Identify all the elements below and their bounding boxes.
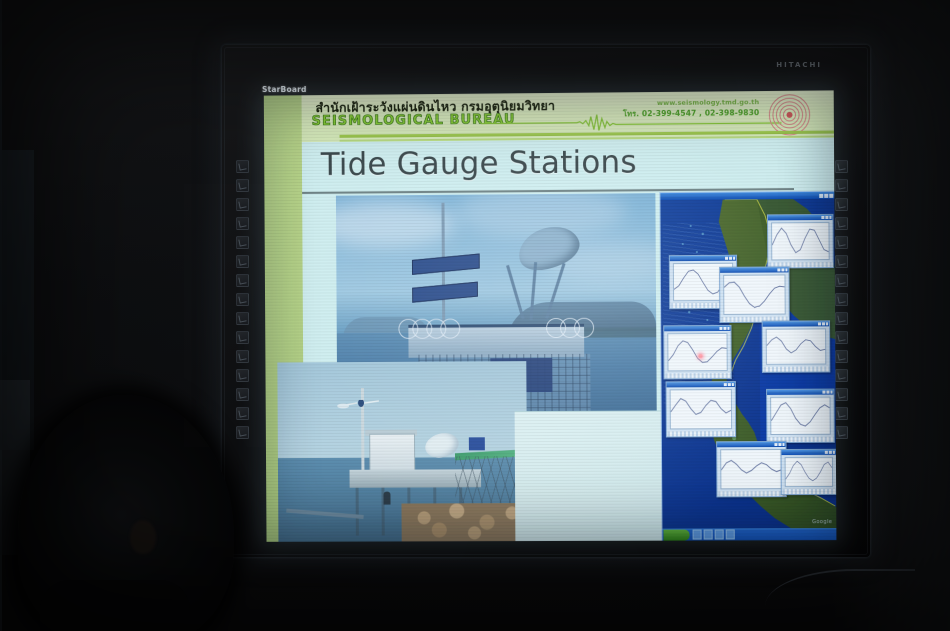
app-icon[interactable] <box>715 529 724 539</box>
station-marker <box>699 354 703 358</box>
starboard-brand-label: StarBoard <box>262 85 307 94</box>
capture-icon[interactable] <box>236 179 249 192</box>
slide-header-banner: สำนักเฝ้าระวังแผ่นดินไหว กรมอุตุนิยมวิทย… <box>302 90 834 142</box>
solar-panel-upper <box>412 254 480 275</box>
blank-placeholder-panel <box>515 410 671 541</box>
blue-equipment-box <box>469 437 485 450</box>
rotate-icon[interactable] <box>835 388 848 401</box>
window-titlebar[interactable] <box>768 215 832 220</box>
right-button-rail[interactable] <box>834 160 848 439</box>
tide-curve-chart <box>771 398 830 434</box>
tide-chart-window[interactable] <box>666 381 737 437</box>
tide-curve-chart <box>721 450 782 488</box>
rock-rubble <box>401 503 527 541</box>
tide-chart-window[interactable] <box>719 266 790 323</box>
line-icon[interactable] <box>835 350 848 363</box>
select-icon[interactable] <box>835 236 848 249</box>
arrow-icon[interactable] <box>835 369 848 382</box>
anemometer-icon <box>337 400 381 412</box>
window-titlebar[interactable] <box>664 326 730 331</box>
tide-curve-chart <box>772 223 829 260</box>
header-telephone-text: โทร. 02-399-4547 , 02-398-9830 <box>623 107 759 120</box>
highlighter-icon[interactable] <box>835 312 848 325</box>
tide-curve-chart <box>668 334 726 370</box>
tide-chart-window[interactable] <box>762 320 831 373</box>
chart-plot-area <box>766 328 827 364</box>
chart-plot-area <box>670 389 732 429</box>
taskbar-tray[interactable] <box>693 529 735 539</box>
window-statusbar <box>718 491 785 496</box>
person-under-pier <box>383 492 390 505</box>
shape-icon[interactable] <box>236 293 249 306</box>
print-icon[interactable] <box>835 160 848 173</box>
capture-icon[interactable] <box>835 179 848 192</box>
tide-chart-window[interactable] <box>767 214 834 269</box>
station-hut <box>369 434 415 474</box>
tide-chart-window[interactable] <box>766 389 835 444</box>
tide-curve-chart <box>724 275 785 313</box>
pen-icon[interactable] <box>236 255 249 268</box>
tide-chart-window[interactable] <box>716 441 787 497</box>
marker-icon[interactable] <box>236 331 249 344</box>
tide-gauge-network-map[interactable]: ANDAMAN SEA Google <box>659 191 836 542</box>
window-statusbar <box>668 431 735 436</box>
window-titlebar[interactable] <box>782 450 836 455</box>
marker-icon[interactable] <box>835 331 848 344</box>
highlighter-icon[interactable] <box>236 312 249 325</box>
tide-chart-window[interactable] <box>780 449 836 495</box>
chart-plot-area <box>720 449 783 489</box>
chart-plot-area <box>771 222 830 261</box>
chart-plot-area <box>770 397 831 435</box>
chart-plot-area <box>785 457 834 487</box>
menu-icon[interactable] <box>835 426 848 439</box>
line-icon[interactable] <box>236 350 249 363</box>
window-titlebar[interactable] <box>667 382 735 387</box>
silhouette-shoulders <box>40 580 190 631</box>
start-button[interactable] <box>663 530 689 541</box>
tide-curve-chart <box>786 458 832 486</box>
app-icon[interactable] <box>704 529 713 539</box>
window-titlebar[interactable] <box>670 256 736 261</box>
chart-plot-area <box>667 333 727 371</box>
window-titlebar[interactable] <box>720 267 788 272</box>
arrow-icon[interactable] <box>236 369 249 382</box>
app-icon[interactable] <box>693 530 702 540</box>
window-titlebar[interactable] <box>767 390 833 395</box>
tide-curve-chart <box>671 390 731 428</box>
blank-icon[interactable] <box>236 407 249 420</box>
pen-icon[interactable] <box>835 255 848 268</box>
solar-panel-lower <box>412 282 478 303</box>
chart-plot-area <box>723 274 786 315</box>
map-watermark: Google <box>812 519 832 525</box>
window-statusbar <box>764 366 829 371</box>
window-titlebar[interactable] <box>717 442 785 447</box>
slide-title: Tide Gauge Stations <box>321 144 637 183</box>
shape-icon[interactable] <box>835 293 848 306</box>
tide-gauge-pier-photo <box>277 361 527 542</box>
tide-chart-window[interactable] <box>663 325 732 379</box>
select-icon[interactable] <box>236 236 249 249</box>
rotate-icon[interactable] <box>236 388 249 401</box>
tide-curve-chart <box>767 329 826 363</box>
window-titlebar[interactable] <box>763 321 829 326</box>
hitachi-logo-label: HITACHI <box>776 61 822 69</box>
eraser-icon[interactable] <box>236 274 249 287</box>
app-icon[interactable] <box>726 529 735 539</box>
windows-taskbar[interactable] <box>662 528 836 542</box>
menu-icon[interactable] <box>236 426 249 439</box>
undo-icon[interactable] <box>236 217 249 230</box>
photo-scene: StarBoard HITACHI <box>0 0 950 631</box>
blank-icon[interactable] <box>835 407 848 420</box>
header-website-text: www.seismology.tmd.go.th <box>657 98 759 107</box>
undo-icon[interactable] <box>835 217 848 230</box>
window-statusbar <box>783 488 836 493</box>
silhouette-ear <box>130 520 156 554</box>
projected-slide[interactable]: สำนักเฝ้าระวังแผ่นดินไหว กรมอุตุนิยมวิทย… <box>264 90 837 541</box>
print-icon[interactable] <box>236 160 249 173</box>
left-button-rail[interactable] <box>235 160 249 439</box>
window-statusbar <box>666 373 731 378</box>
eraser-icon[interactable] <box>835 274 848 287</box>
page-icon[interactable] <box>835 198 848 211</box>
starboard-whiteboard[interactable]: StarBoard HITACHI <box>222 45 870 557</box>
page-icon[interactable] <box>236 198 249 211</box>
